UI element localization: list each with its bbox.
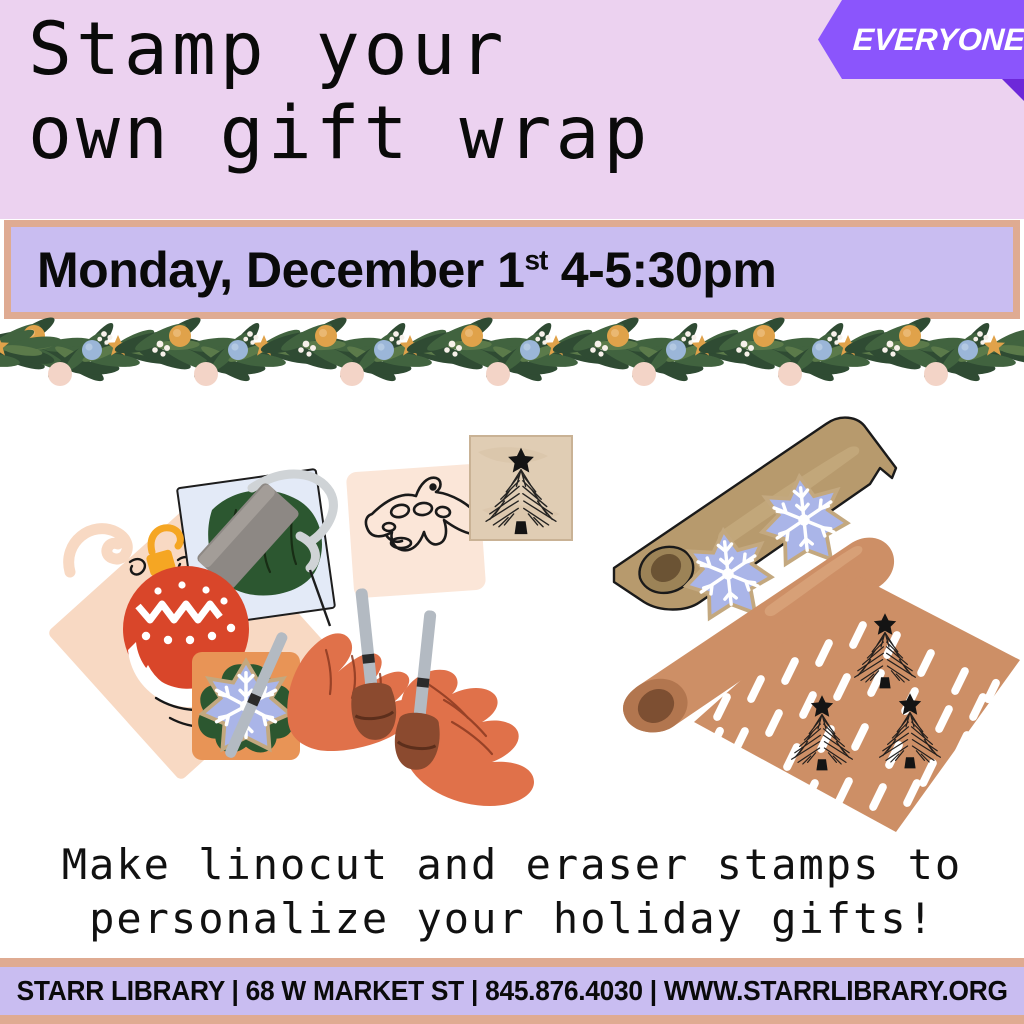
tree-stamp-print bbox=[470, 436, 572, 540]
stamping-illustration bbox=[0, 392, 1024, 832]
page-title: Stamp your own gift wrap bbox=[28, 8, 888, 176]
audience-badge-label: EVERYONE bbox=[851, 0, 1024, 79]
date-day: Monday, December 1 bbox=[37, 242, 524, 298]
date-time-bar: Monday, December 1st 4-5:30pm bbox=[4, 220, 1020, 319]
description-text: Make linocut and eraser stamps to person… bbox=[0, 838, 1024, 946]
date-time: 4-5:30pm bbox=[547, 242, 776, 298]
paper-rolls-group bbox=[614, 418, 1020, 832]
audience-badge-fold-icon bbox=[1002, 79, 1024, 101]
left-stamp-group bbox=[47, 469, 335, 781]
string-squiggle bbox=[69, 529, 128, 572]
poster-footer: STARR LIBRARY | 68 W MARKET ST | 845.876… bbox=[0, 958, 1024, 1024]
footer-contact-text: STARR LIBRARY | 68 W MARKET ST | 845.876… bbox=[16, 975, 1007, 1007]
event-poster: Stamp your own gift wrap EVERYONE Monday… bbox=[0, 0, 1024, 1024]
audience-badge: EVERYONE bbox=[818, 0, 1024, 100]
printed-sheet bbox=[694, 576, 1020, 832]
date-ordinal-suffix: st bbox=[524, 244, 547, 275]
pine-garland-icon bbox=[0, 316, 1024, 392]
date-time-text: Monday, December 1st 4-5:30pm bbox=[37, 241, 776, 299]
garland-repeat-group bbox=[0, 316, 1024, 392]
